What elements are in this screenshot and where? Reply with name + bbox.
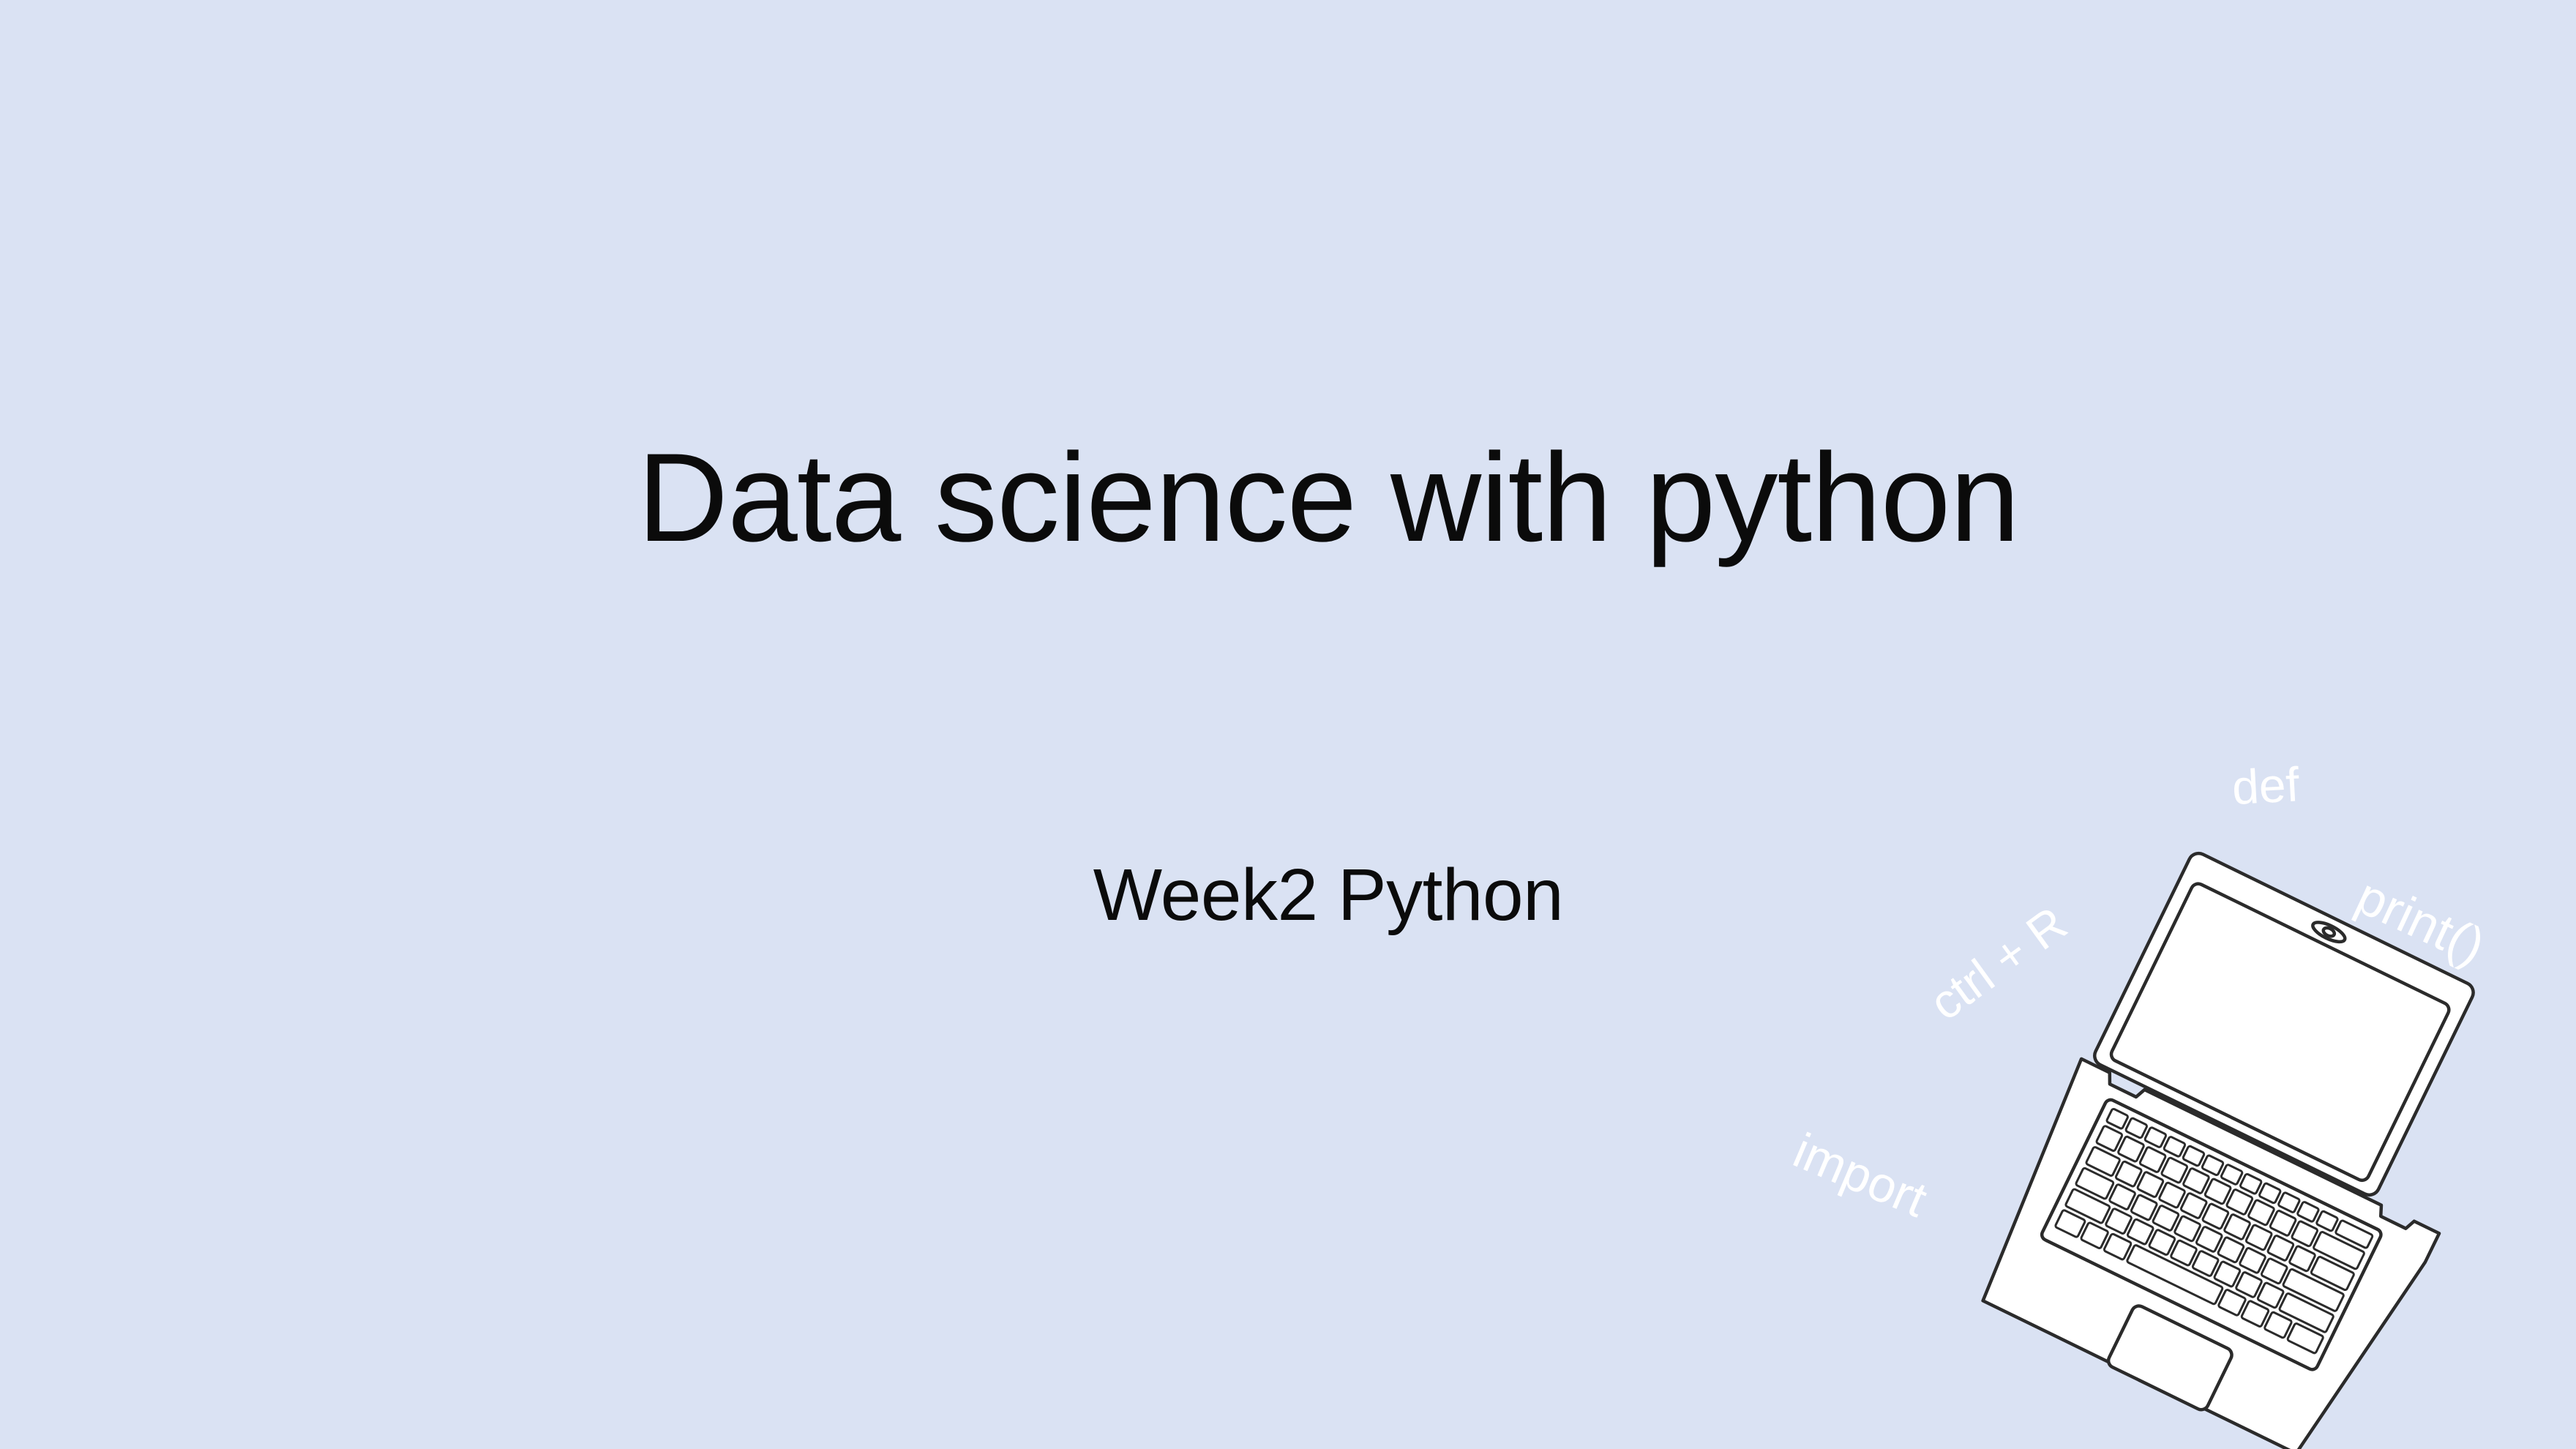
laptop-icon [1932,842,2547,1449]
code-keyword-def: def [2231,760,2300,812]
page-title: Data science with python [0,430,2576,566]
slide-canvas: Data science with python Week2 Python de… [0,0,2576,1449]
title-container: Data science with python [0,430,2576,566]
code-keyword-import: import [1787,1126,1933,1225]
laptop-illustration-svg [1932,842,2547,1449]
